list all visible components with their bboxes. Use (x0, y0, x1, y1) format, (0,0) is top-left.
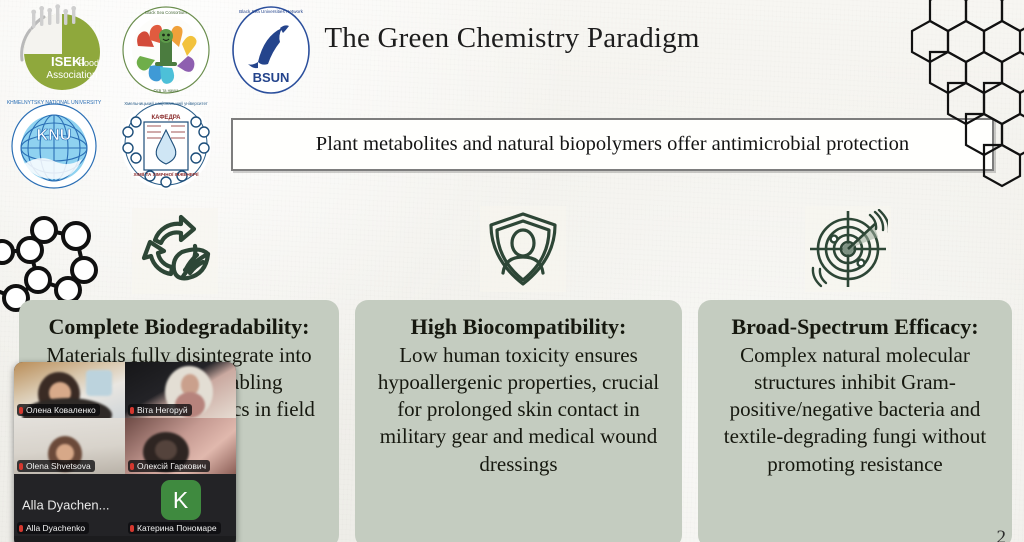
participant-tile[interactable]: Віта Негоруй (125, 362, 236, 418)
shield-person-icon (480, 206, 566, 292)
card-title: High Biocompatibility: (368, 314, 669, 340)
participant-tile[interactable]: K Катерина Пономаре (125, 474, 236, 536)
card-high-biocompatibility: High Biocompatibility: Low human toxicit… (355, 300, 682, 542)
page-number: 2 (997, 527, 1007, 542)
iseki-logo-line2: - Food (73, 58, 99, 68)
subtitle-banner: Plant metabolites and natural biopolymer… (231, 118, 994, 171)
subtitle-text: Plant metabolites and natural biopolymer… (316, 133, 909, 156)
participant-name-badge: Олексій Гаркович (128, 460, 210, 472)
recycle-leaf-icon (132, 208, 218, 294)
participant-name: Alla Dyachenko (26, 523, 85, 533)
participant-name-badge: Олена Коваленко (17, 404, 100, 416)
department-logo-sublabel: ХІМІЇ ТА ХІМІЧНОЇ ІНЖЕНЕРІЇ (133, 171, 199, 177)
participant-name: Олена Коваленко (26, 405, 96, 415)
radar-target-icon (805, 206, 891, 292)
participant-name-badge: Olena Shvetsova (17, 460, 95, 472)
card-body: Complex natural molecular structures inh… (711, 342, 999, 478)
participant-name: Катерина Пономаре (137, 523, 217, 533)
bsun-ring-text: Black Sea Universities Network (239, 9, 304, 14)
card-body: Low human toxicity ensures hypoallergeni… (368, 342, 669, 478)
svg-text:Хмельницький національний унів: Хмельницький національний університет (124, 101, 208, 106)
participant-name: Олексій Гаркович (137, 461, 206, 471)
bsun-logo-label: BSUN (253, 70, 290, 85)
microphone-muted-icon (19, 407, 23, 414)
microphone-muted-icon (130, 525, 134, 532)
video-conference-panel[interactable]: Олена Коваленко Віта Негоруй Olena Shvet… (14, 362, 236, 542)
microphone-muted-icon (19, 463, 23, 470)
logo-bar-bottom: KNU KHMELNYTSKY NATIONAL UNIVERSITY (2, 96, 216, 192)
card-title: Complete Biodegradability: (32, 314, 326, 340)
microphone-muted-icon (130, 407, 134, 414)
participant-name: Olena Shvetsova (26, 461, 91, 471)
card-title: Broad-Spectrum Efficacy: (711, 314, 999, 340)
presentation-slide: ISEKI - Food Association (0, 0, 1024, 542)
svg-text:Осв та наука: Осв та наука (153, 88, 179, 93)
participant-tile[interactable]: Alla Dyachen... Alla Dyachenko (14, 474, 125, 536)
khmelnytsky-national-university-logo: KNU KHMELNYTSKY NATIONAL UNIVERSITY (2, 96, 106, 192)
participant-avatar: K (161, 480, 201, 520)
participant-display-name: Alla Dyachen... (22, 498, 109, 513)
participant-name-badge: Alla Dyachenko (17, 522, 89, 534)
participant-name-badge: Катерина Пономаре (128, 522, 221, 534)
svg-text:Black Sea Consortium: Black Sea Consortium (145, 10, 187, 15)
participant-tile[interactable]: Олексій Гаркович (125, 418, 236, 474)
iseki-logo-line3: Association (46, 70, 97, 81)
microphone-muted-icon (130, 463, 134, 470)
department-logo: КАФЕДРА ХІМІЇ ТА ХІМІЧНОЇ ІНЖЕНЕРІЇ Хмел… (116, 96, 216, 192)
knu-ring-text: KHMELNYTSKY NATIONAL UNIVERSITY (7, 100, 102, 106)
participant-name-badge: Віта Негоруй (128, 404, 192, 416)
participant-grid: Олена Коваленко Віта Негоруй Olena Shvet… (14, 362, 236, 536)
knu-logo-label: KNU (37, 127, 72, 144)
participant-tile[interactable]: Олена Коваленко (14, 362, 125, 418)
microphone-muted-icon (19, 525, 23, 532)
card-broad-spectrum-efficacy: Broad-Spectrum Efficacy: Complex natural… (698, 300, 1012, 542)
page-title: The Green Chemistry Paradigm (0, 22, 1024, 55)
participant-tile[interactable]: Olena Shvetsova (14, 418, 125, 474)
department-logo-label: КАФЕДРА (151, 115, 181, 121)
participant-name: Віта Негоруй (137, 405, 188, 415)
